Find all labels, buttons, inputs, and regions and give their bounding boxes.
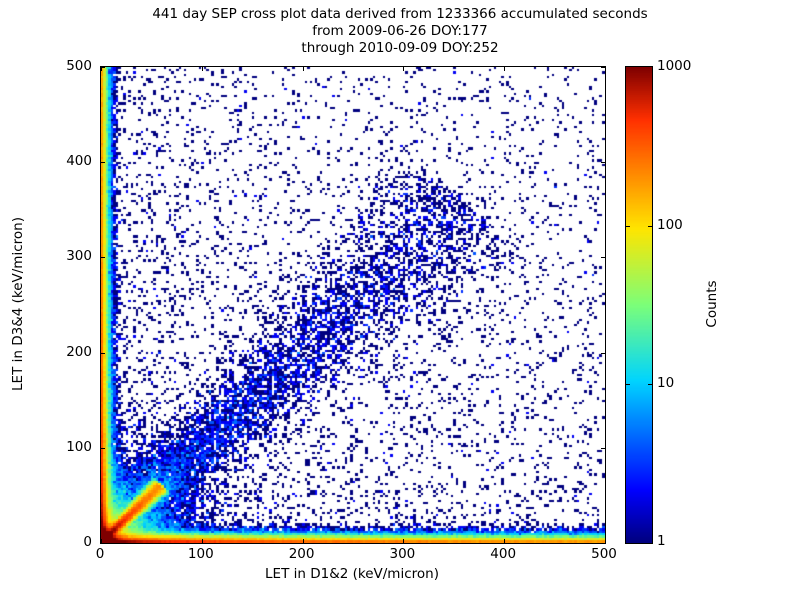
y-tick-label: 0 [0, 534, 92, 550]
x-tick-mark [403, 539, 404, 543]
plot-title-line-2: from 2009-06-26 DOY:177 [0, 23, 800, 40]
y-tick-mark [601, 67, 605, 68]
x-tick-label: 300 [390, 546, 416, 562]
colorbar-tick-label: 1000 [657, 58, 691, 74]
y-tick-mark [101, 257, 105, 258]
x-tick-label: 400 [490, 546, 516, 562]
y-tick-mark [601, 448, 605, 449]
x-tick-mark [202, 539, 203, 543]
colorbar-tick-mark [626, 384, 630, 385]
colorbar-tick-mark [626, 226, 630, 227]
scatter-plot-axes [100, 66, 606, 544]
y-tick-label: 100 [0, 439, 92, 455]
x-tick-mark [202, 67, 203, 71]
y-tick-mark [101, 448, 105, 449]
y-tick-mark [101, 67, 105, 68]
x-tick-mark [403, 67, 404, 71]
y-tick-mark [601, 162, 605, 163]
y-tick-mark [101, 543, 105, 544]
x-tick-mark [504, 539, 505, 543]
colorbar-gradient [626, 67, 652, 543]
colorbar-tick-label: 1 [657, 533, 666, 549]
figure: 441 day SEP cross plot data derived from… [0, 0, 800, 600]
x-tick-label: 200 [289, 546, 315, 562]
colorbar-tick-mark [648, 384, 652, 385]
plot-title-line-1: 441 day SEP cross plot data derived from… [0, 6, 800, 23]
histogram-canvas [101, 67, 605, 543]
colorbar-label: Counts [704, 280, 720, 327]
x-tick-mark [504, 67, 505, 71]
x-tick-mark [303, 67, 304, 71]
plot-title-line-3: through 2010-09-09 DOY:252 [0, 40, 800, 57]
y-axis-label: LET in D3&4 (keV/micron) [10, 217, 26, 391]
colorbar-tick-label: 10 [657, 375, 674, 391]
colorbar [625, 66, 653, 544]
colorbar-tick-label: 100 [657, 217, 683, 233]
x-tick-mark [605, 539, 606, 543]
x-axis-label: LET in D1&2 (keV/micron) [100, 566, 604, 582]
x-tick-label: 100 [188, 546, 214, 562]
y-tick-mark [601, 543, 605, 544]
x-tick-label: 500 [591, 546, 617, 562]
x-tick-label: 0 [96, 546, 105, 562]
y-tick-mark [601, 257, 605, 258]
y-tick-mark [101, 353, 105, 354]
y-tick-mark [101, 162, 105, 163]
colorbar-tick-mark [648, 226, 652, 227]
y-tick-label: 500 [0, 58, 92, 74]
x-tick-mark [303, 539, 304, 543]
y-tick-label: 400 [0, 153, 92, 169]
x-tick-mark [605, 67, 606, 71]
plot-title: 441 day SEP cross plot data derived from… [0, 6, 800, 57]
y-tick-mark [601, 353, 605, 354]
